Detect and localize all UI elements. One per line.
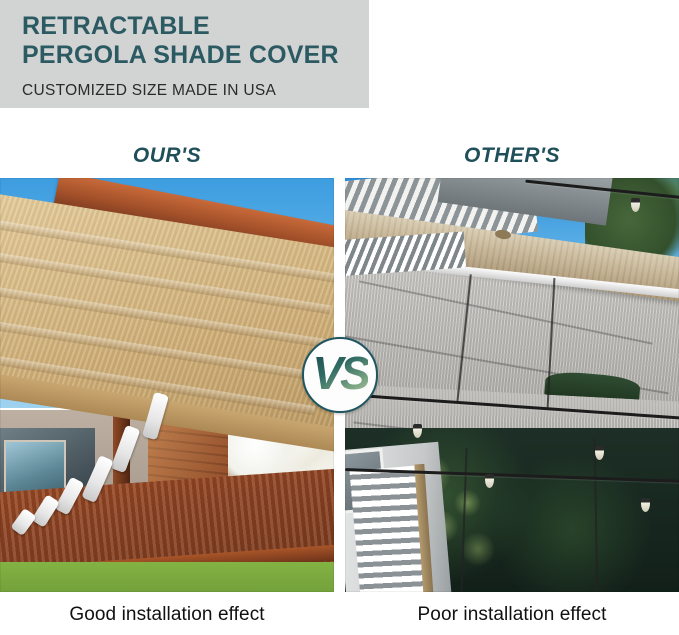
photo-poor-installation bbox=[345, 178, 679, 592]
product-title-line-1: RETRACTABLE bbox=[22, 12, 369, 41]
caption-poor-installation: Poor installation effect bbox=[345, 604, 679, 626]
versus-label: VS bbox=[312, 350, 367, 400]
product-subtitle: CUSTOMIZED SIZE MADE IN USA bbox=[22, 81, 369, 100]
caption-good-installation: Good installation effect bbox=[0, 604, 334, 626]
lawn-front bbox=[0, 562, 334, 592]
versus-badge: VS bbox=[302, 337, 378, 413]
header-banner: RETRACTABLE PERGOLA SHADE COVER CUSTOMIZ… bbox=[0, 0, 369, 108]
product-title-line-2: PERGOLA SHADE COVER bbox=[22, 41, 369, 70]
column-heading-others: OTHER'S bbox=[345, 144, 679, 168]
column-heading-ours: OUR'S bbox=[0, 144, 334, 168]
photo-good-installation bbox=[0, 178, 334, 592]
